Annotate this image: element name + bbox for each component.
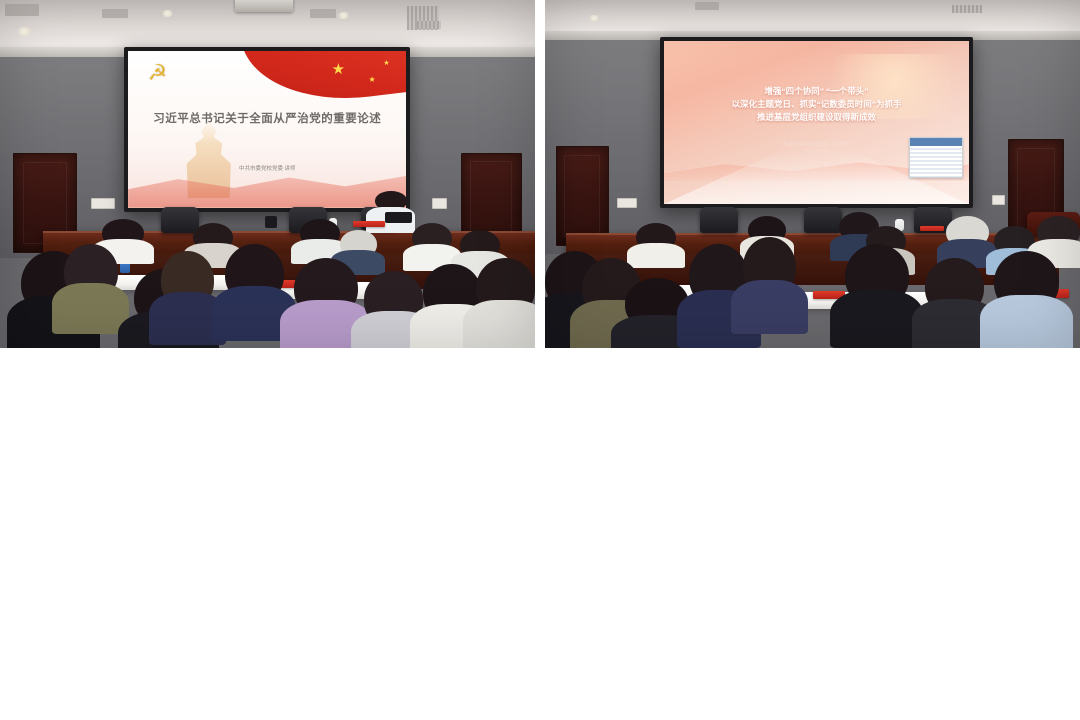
slide-subtitle: 中共市委党校党委 讲师: [128, 164, 406, 172]
party-emblem-icon: ☭: [148, 62, 168, 84]
ceiling-light: [16, 27, 32, 36]
ceiling-vent: [102, 9, 128, 18]
audience-person: [294, 258, 358, 348]
wall-sign: [91, 198, 115, 208]
ceiling-light: [588, 15, 600, 21]
audience-person: [161, 251, 215, 345]
audience-person: [225, 244, 284, 341]
audience-person: [64, 244, 118, 334]
star-icon: ★: [332, 62, 345, 77]
grid-gutter-vertical: [535, 0, 545, 348]
slide-line-3: 推进基层党组织建设取得新成效: [676, 111, 957, 124]
door-left: [556, 146, 609, 245]
screen-overlay-window: [909, 137, 963, 178]
audience-person: [845, 244, 909, 348]
ceiling-vent: [5, 4, 39, 16]
star-icon: ★: [383, 60, 389, 67]
slide-top-left: ★ ★ ★ ☭ 习近平总书记关于全面从严治党的重要论述 中共市委党校党委 讲师: [128, 51, 406, 208]
photo-panel-top-left[interactable]: ★ ★ ★ ☭ 习近平总书记关于全面从严治党的重要论述 中共市委党校党委 讲师: [0, 0, 535, 348]
photo-panel-top-right[interactable]: 增强“四个协同” “一个带头” 以深化主题党日、抓实“记数委员时间”为抓手 推进…: [545, 0, 1080, 348]
ceiling-grille: [417, 21, 441, 29]
slide-hills-graphic: [128, 167, 406, 208]
grid-gutter-vertical: [0, 348, 535, 366]
projection-screen: ★ ★ ★ ☭ 习近平总书记关于全面从严治党的重要论述 中共市委党校党委 讲师: [124, 47, 410, 212]
nameplate: [920, 226, 944, 231]
ceiling-vent: [310, 9, 336, 18]
slide-title: 习近平总书记关于全面从严治党的重要论述: [136, 110, 398, 126]
projector-icon: [235, 0, 293, 12]
slide-line-1: 增强“四个协同” “一个带头”: [676, 85, 957, 98]
projection-screen: 增强“四个协同” “一个带头” 以深化主题党日、抓实“记数委员时间”为抓手 推进…: [660, 37, 973, 209]
laptop: [385, 212, 412, 222]
grid-gutter-horizontal: [0, 366, 1080, 720]
wall-sign: [432, 198, 447, 209]
ceiling-grille: [952, 5, 982, 13]
chair: [804, 207, 841, 233]
audience-person: [925, 258, 984, 348]
photo-grid: ★ ★ ★ ☭ 习近平总书记关于全面从严治党的重要论述 中共市委党校党委 讲师: [0, 0, 1080, 720]
ceiling-vent: [695, 2, 719, 10]
nameplate: [353, 221, 385, 227]
ceiling-light: [337, 12, 350, 19]
audience-person: [636, 223, 676, 268]
chair: [700, 207, 737, 233]
wall-sign: [617, 198, 637, 208]
audience-person: [743, 237, 797, 334]
audience-person: [994, 251, 1058, 348]
flag-graphic: [241, 51, 406, 111]
slide-top-right: 增强“四个协同” “一个带头” 以深化主题党日、抓实“记数委员时间”为抓手 推进…: [664, 41, 969, 205]
ceiling-light: [161, 10, 174, 17]
audience-person: [476, 258, 535, 348]
desk-monitor: [265, 216, 277, 228]
slide-line-2: 以深化主题党日、抓实“记数委员时间”为抓手: [676, 98, 957, 111]
star-icon: ★: [369, 76, 376, 84]
wall-sign: [992, 195, 1005, 205]
